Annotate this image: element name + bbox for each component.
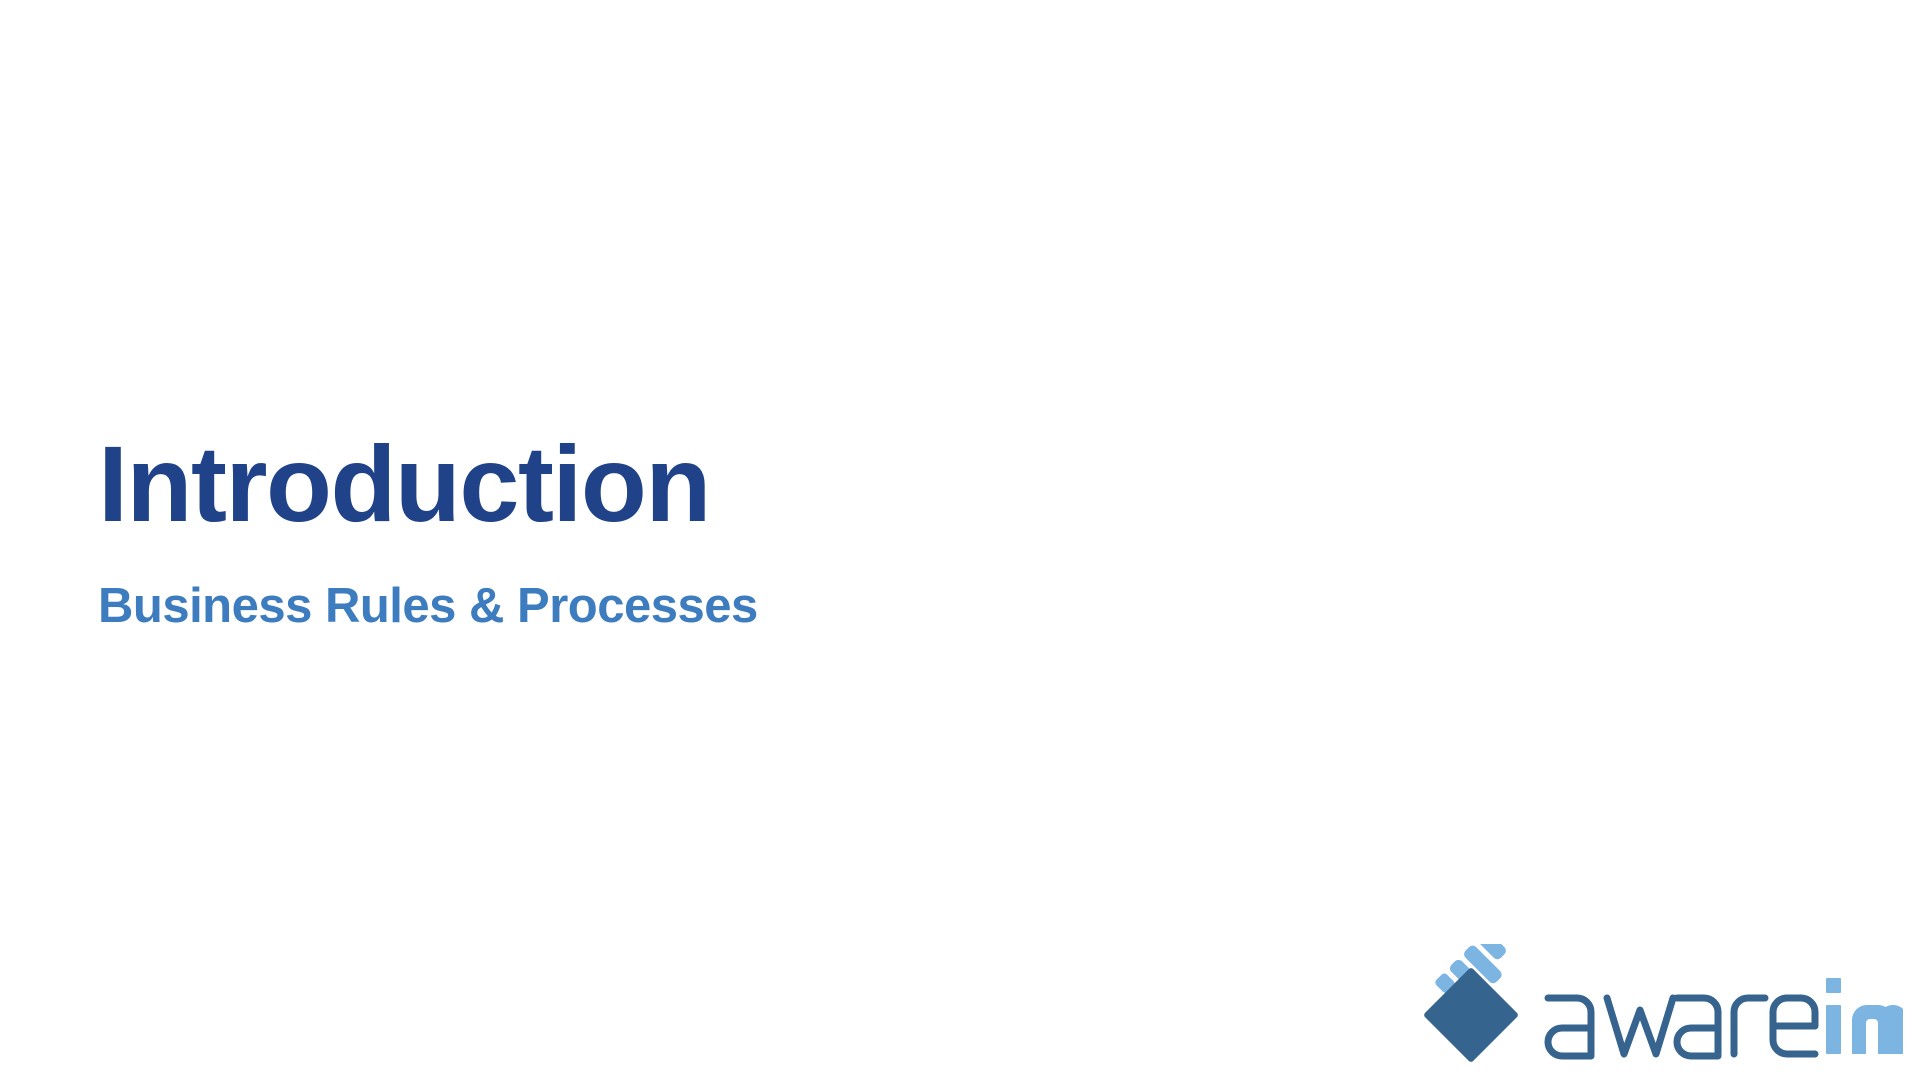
page-title: Introduction — [98, 430, 758, 538]
logo-wordmark — [1543, 952, 1903, 1062]
page-subtitle: Business Rules & Processes — [98, 538, 758, 631]
diamond-dashes-icon — [1421, 944, 1561, 1062]
awareim-logo — [1421, 944, 1903, 1062]
presentation-slide: Introduction Business Rules & Processes — [0, 0, 1920, 1080]
title-block: Introduction Business Rules & Processes — [98, 430, 758, 631]
